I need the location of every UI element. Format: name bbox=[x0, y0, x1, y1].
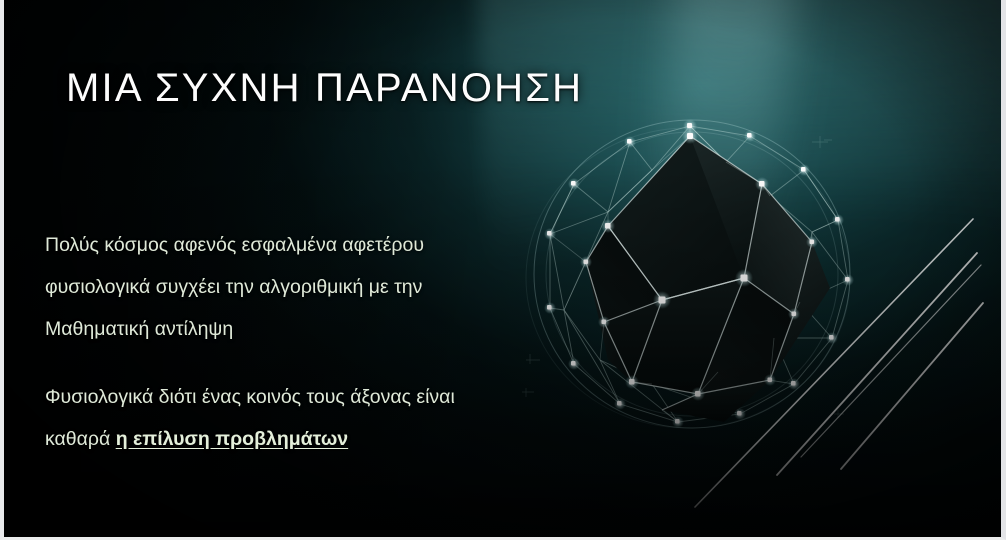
slide-title: ΜΙΑ ΣΥΧΝΗ ΠΑΡΑΝΟΗΣΗ bbox=[66, 66, 583, 111]
presentation-slide: ΜΙΑ ΣΥΧΝΗ ΠΑΡΑΝΟΗΣΗ Πολύς κόσμος αφενός … bbox=[0, 0, 1006, 540]
paragraph-one: Πολύς κόσμος αφενός εσφαλμένα αφετέρου φ… bbox=[45, 224, 525, 350]
paragraph-two: Φυσιολογικά διότι ένας κοινός τους άξονα… bbox=[45, 376, 525, 460]
paragraph-two-emphasis: η επίλυση προβλημάτων bbox=[116, 428, 348, 450]
slide-body: Πολύς κόσμος αφενός εσφαλμένα αφετέρου φ… bbox=[45, 224, 525, 460]
